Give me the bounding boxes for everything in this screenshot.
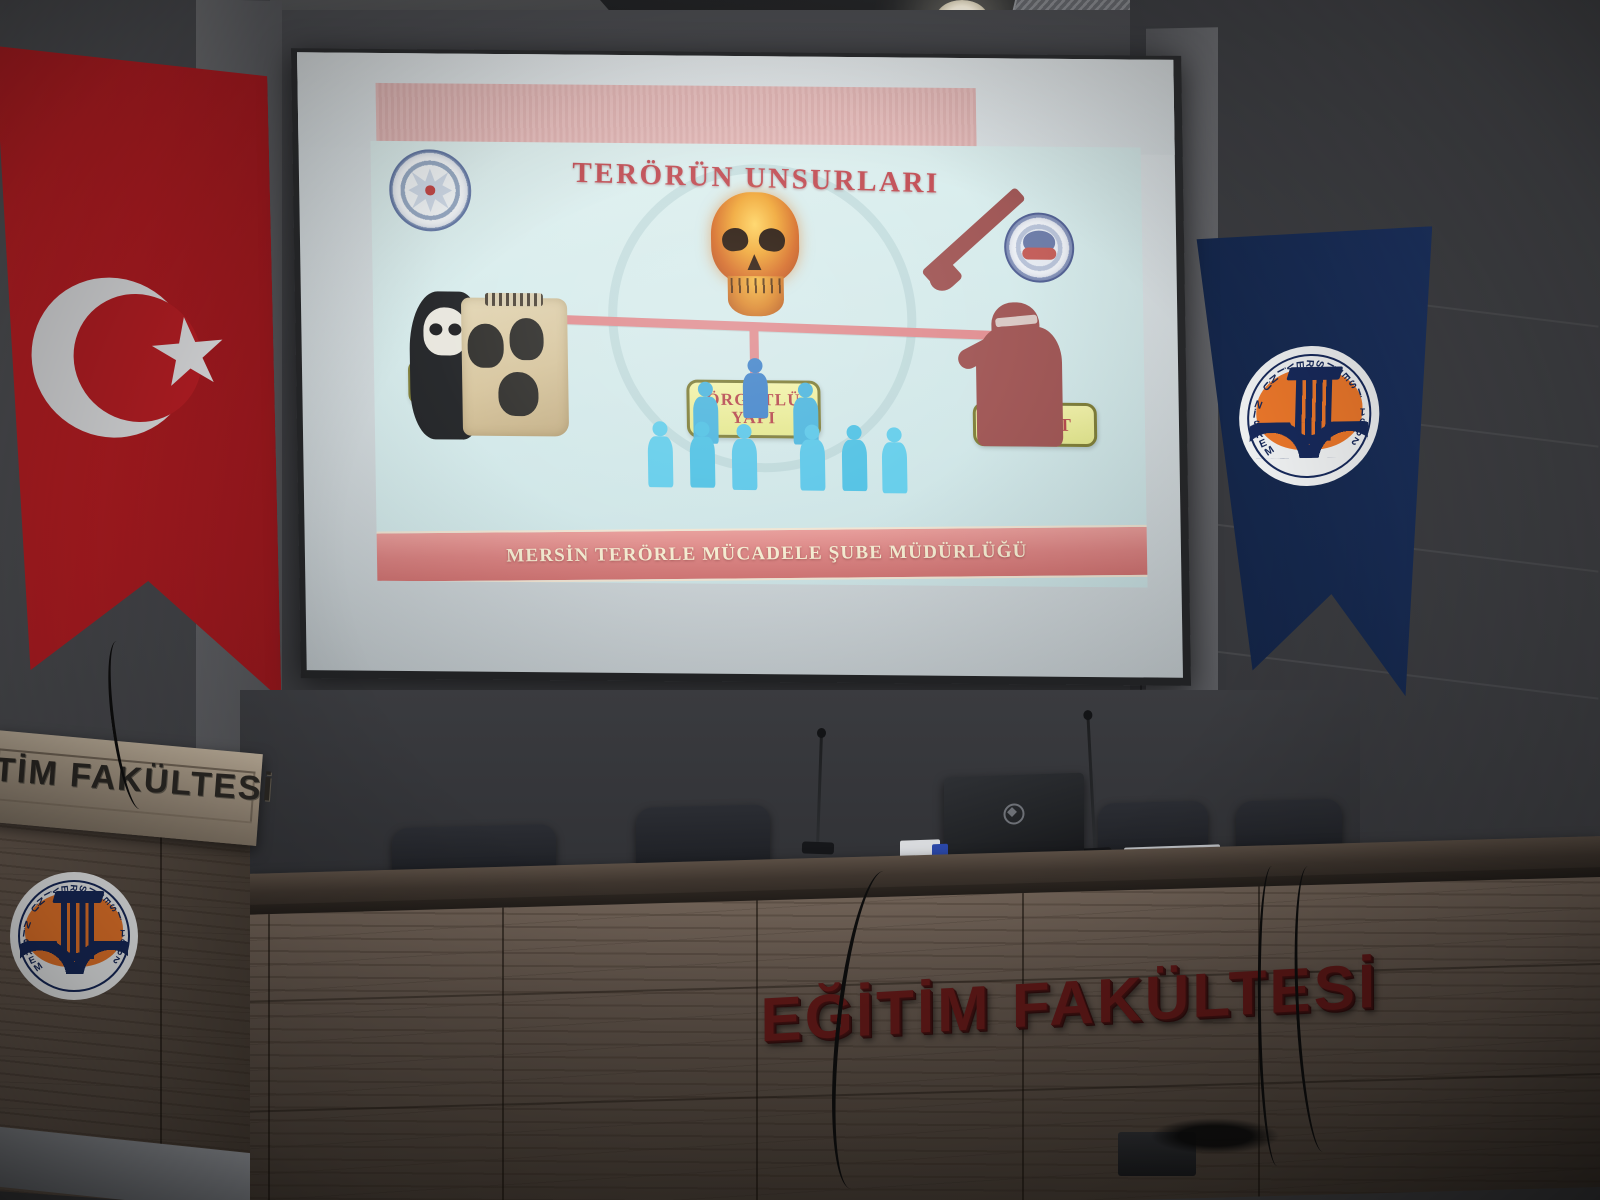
university-logo-ring-text: MERSİN ÜNİVERSİTESİ 1992 [10, 872, 138, 1000]
person-figure-leader [742, 358, 769, 418]
presenter-laptop[interactable] [944, 773, 1084, 860]
conference-hall-photo: MERSİN ÜNİVERSİTESİ 1992 TERÖRÜN UNSURLA… [0, 0, 1600, 1200]
crescent-icon [30, 276, 194, 438]
grim-reaper-with-scroll-illustration [409, 287, 571, 440]
person-figure-base [689, 422, 716, 488]
university-logo-ring-text: MERSİN ÜNİVERSİTESİ 1992 [1237, 345, 1381, 487]
projection-screen: TERÖRÜN UNSURLARI İDEOLOJİ ÖRGÜTLÜ YAPI … [297, 52, 1183, 678]
slide-footer-band: MERSİN TERÖRLE MÜCADELE ŞUBE MÜDÜRLÜĞÜ [370, 525, 1147, 584]
slide-footer-text: MERSİN TERÖRLE MÜCADELE ŞUBE MÜDÜRLÜĞÜ [506, 541, 1028, 568]
terorle-mucadele-emblem-icon [1004, 212, 1075, 283]
person-figure-base [731, 424, 758, 490]
mersin-universitesi-logo-icon: MERSİN ÜNİVERSİTESİ 1992 [1237, 345, 1381, 487]
mersin-universitesi-wall-logo-icon: MERSİN ÜNİVERSİTESİ 1992 [10, 872, 138, 1000]
person-figure-base [647, 421, 674, 487]
masked-militant-with-rpg-illustration [933, 276, 1086, 447]
dell-logo-icon [1004, 803, 1025, 825]
person-figure-base [799, 424, 826, 490]
cable-bundle [1150, 1118, 1280, 1154]
presentation-slide: TERÖRÜN UNSURLARI İDEOLOJİ ÖRGÜTLÜ YAPI … [370, 141, 1147, 588]
person-figure-base [841, 425, 868, 491]
person-figure-base [881, 427, 908, 493]
slide-overscan-band [376, 83, 977, 150]
flaming-skull-icon [704, 192, 806, 321]
